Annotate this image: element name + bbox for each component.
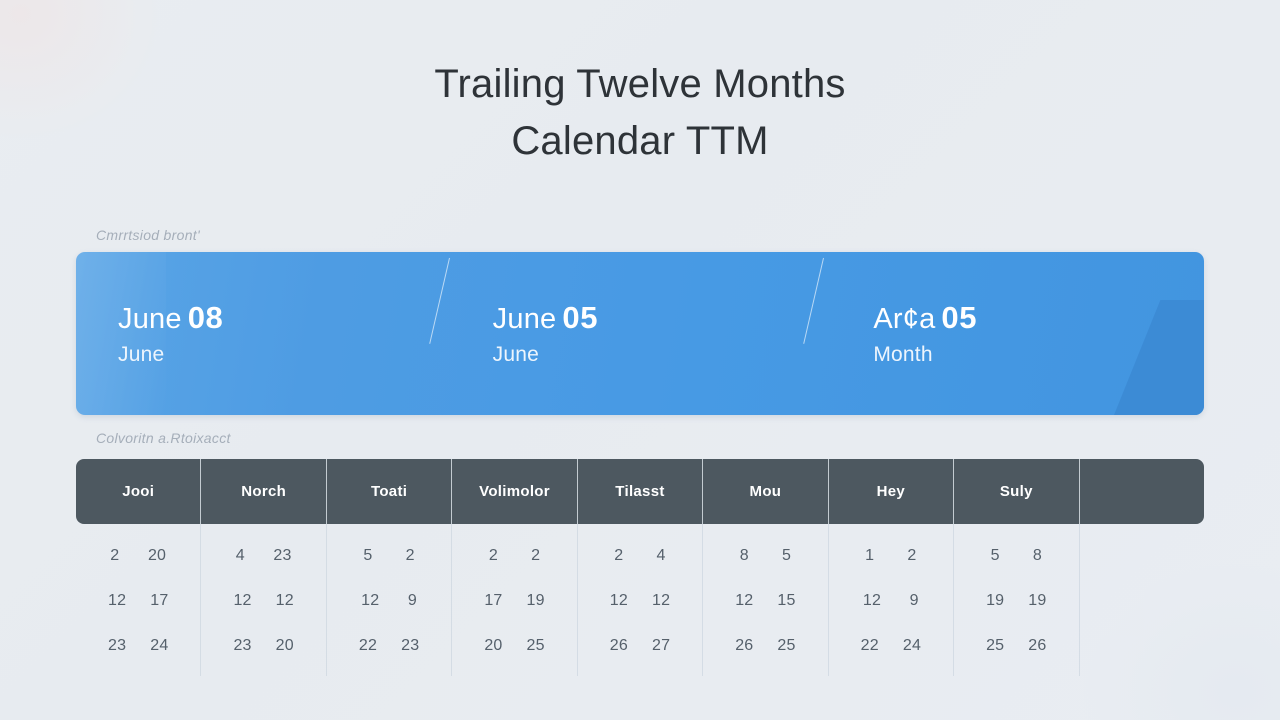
table-cell-value: 23: [233, 637, 251, 655]
table-column-header[interactable]: Toati: [327, 459, 452, 524]
table-cell-value: 2: [489, 547, 498, 565]
table-row[interactable]: [1080, 623, 1204, 668]
table-cell-value: 12: [735, 592, 753, 610]
table-column-header[interactable]: Hey: [829, 459, 954, 524]
table-header-row: JooiNorchToatiVolimolorTilasstMouHeySuly: [76, 459, 1204, 524]
table-row[interactable]: [1080, 533, 1204, 578]
table-cell-value: 19: [527, 592, 545, 610]
table-column: 2217192025: [452, 524, 577, 676]
table-cell-value: 1: [865, 547, 874, 565]
table-cell-value: 15: [777, 592, 795, 610]
table-cell-value: 26: [610, 637, 628, 655]
table-cell-value: 2: [531, 547, 540, 565]
table-row[interactable]: 24: [578, 533, 702, 578]
table-cell-value: 19: [986, 592, 1004, 610]
table-row[interactable]: 2627: [578, 623, 702, 668]
table-column-header[interactable]: [1080, 459, 1204, 524]
page-title-line-1: Trailing Twelve Months: [0, 56, 1280, 113]
table-column: 42312122320: [201, 524, 326, 676]
table-column: 521292223: [327, 524, 452, 676]
table-cell-value: 20: [484, 637, 502, 655]
banner-cell-list: June08 June June05 June Ar¢a05 Month: [76, 252, 1204, 415]
table-row[interactable]: 22: [452, 533, 576, 578]
table-column-header[interactable]: Jooi: [76, 459, 201, 524]
table-cell-value: 12: [233, 592, 251, 610]
table-row[interactable]: 2625: [703, 623, 827, 668]
page-title: Trailing Twelve Months Calendar TTM: [0, 56, 1280, 170]
table-cell-value: 2: [614, 547, 623, 565]
table-cell-value: 17: [484, 592, 502, 610]
table-column-header[interactable]: Tilasst: [578, 459, 703, 524]
table-row[interactable]: 129: [829, 578, 953, 623]
table-row[interactable]: 423: [201, 533, 325, 578]
table-row[interactable]: 1217: [76, 578, 200, 623]
table-column-header[interactable]: Volimolor: [452, 459, 577, 524]
table-cell-value: 19: [1028, 592, 1046, 610]
table-section-label: Colvoritn a.Rtoiхaсct: [96, 430, 231, 446]
banner-cell-prefix: Ar¢a: [873, 303, 935, 335]
table-cell-value: 23: [273, 547, 291, 565]
table-row[interactable]: 2025: [452, 623, 576, 668]
table-cell-value: 25: [527, 637, 545, 655]
table-cell-value: 12: [361, 592, 379, 610]
table-cell-value: 22: [861, 637, 879, 655]
table-row[interactable]: 2224: [829, 623, 953, 668]
table-cell-value: 26: [735, 637, 753, 655]
table-cell-value: 5: [363, 547, 372, 565]
table-row[interactable]: 1212: [578, 578, 702, 623]
calendar-table: JooiNorchToatiVolimolorTilasstMouHeySuly…: [76, 459, 1204, 676]
table-row[interactable]: 1215: [703, 578, 827, 623]
table-cell-value: 22: [359, 637, 377, 655]
banner-cell-value: 05: [562, 300, 598, 335]
table-cell-value: 24: [150, 637, 168, 655]
table-column-header[interactable]: Mou: [703, 459, 828, 524]
table-cell-value: 26: [1028, 637, 1046, 655]
table-cell-value: 23: [401, 637, 419, 655]
table-cell-value: 8: [740, 547, 749, 565]
table-column-header[interactable]: Norch: [201, 459, 326, 524]
banner-cell-headline: June08: [118, 300, 449, 337]
table-body: 2201217232442312122320521292223221719202…: [76, 524, 1204, 676]
banner-cell[interactable]: Ar¢a05 Month: [823, 252, 1204, 415]
banner-cell[interactable]: June05 June: [449, 252, 824, 415]
table-cell-value: 12: [652, 592, 670, 610]
table-cell-value: 25: [986, 637, 1004, 655]
banner-cell-headline: Ar¢a05: [873, 300, 1204, 337]
banner-cell-prefix: June: [493, 303, 557, 335]
table-cell-value: 9: [408, 592, 417, 610]
table-row[interactable]: 1212: [201, 578, 325, 623]
table-row[interactable]: 129: [327, 578, 451, 623]
table-row[interactable]: 1919: [954, 578, 1078, 623]
table-cell-value: 24: [903, 637, 921, 655]
table-cell-value: 2: [406, 547, 415, 565]
table-cell-value: 25: [777, 637, 795, 655]
table-row[interactable]: 52: [327, 533, 451, 578]
table-cell-value: 20: [148, 547, 166, 565]
table-row[interactable]: 2320: [201, 623, 325, 668]
table-column-header[interactable]: Suly: [954, 459, 1079, 524]
table-cell-value: 20: [276, 637, 294, 655]
table-cell-value: 2: [110, 547, 119, 565]
page-title-line-2: Calendar TTM: [0, 113, 1280, 170]
table-cell-value: 4: [657, 547, 666, 565]
table-cell-value: 12: [108, 592, 126, 610]
table-cell-value: 5: [991, 547, 1000, 565]
table-row[interactable]: 1719: [452, 578, 576, 623]
table-row[interactable]: 58: [954, 533, 1078, 578]
table-cell-value: 23: [108, 637, 126, 655]
table-row[interactable]: 2526: [954, 623, 1078, 668]
banner-cell[interactable]: June08 June: [76, 252, 449, 415]
banner-cell-prefix: June: [118, 303, 182, 335]
banner-cell-sublabel: Month: [873, 343, 1204, 367]
table-cell-value: 9: [910, 592, 919, 610]
banner-cell-sublabel: June: [118, 343, 449, 367]
banner-cell-headline: June05: [493, 300, 824, 337]
table-cell-value: 4: [236, 547, 245, 565]
table-cell-value: 17: [150, 592, 168, 610]
banner-cell-value: 05: [941, 300, 977, 335]
table-row[interactable]: 12: [829, 533, 953, 578]
table-column: 8512152625: [703, 524, 828, 676]
table-column: 121292224: [829, 524, 954, 676]
table-column: 2412122627: [578, 524, 703, 676]
table-cell-value: 12: [610, 592, 628, 610]
banner-section-label: Cmrrtsiod bront': [96, 227, 200, 243]
table-cell-value: 8: [1033, 547, 1042, 565]
table-row[interactable]: [1080, 578, 1204, 623]
table-cell-value: 12: [863, 592, 881, 610]
table-column: 22012172324: [76, 524, 201, 676]
summary-banner: June08 June June05 June Ar¢a05 Month: [76, 252, 1204, 415]
table-cell-value: 27: [652, 637, 670, 655]
banner-cell-value: 08: [188, 300, 224, 335]
table-row[interactable]: 220: [76, 533, 200, 578]
table-row[interactable]: 2324: [76, 623, 200, 668]
table-row[interactable]: 85: [703, 533, 827, 578]
table-row[interactable]: 2223: [327, 623, 451, 668]
table-column: 5819192526: [954, 524, 1079, 676]
table-cell-value: 5: [782, 547, 791, 565]
banner-cell-sublabel: June: [493, 343, 824, 367]
table-cell-value: 2: [907, 547, 916, 565]
table-column: [1080, 524, 1204, 676]
table-cell-value: 12: [276, 592, 294, 610]
